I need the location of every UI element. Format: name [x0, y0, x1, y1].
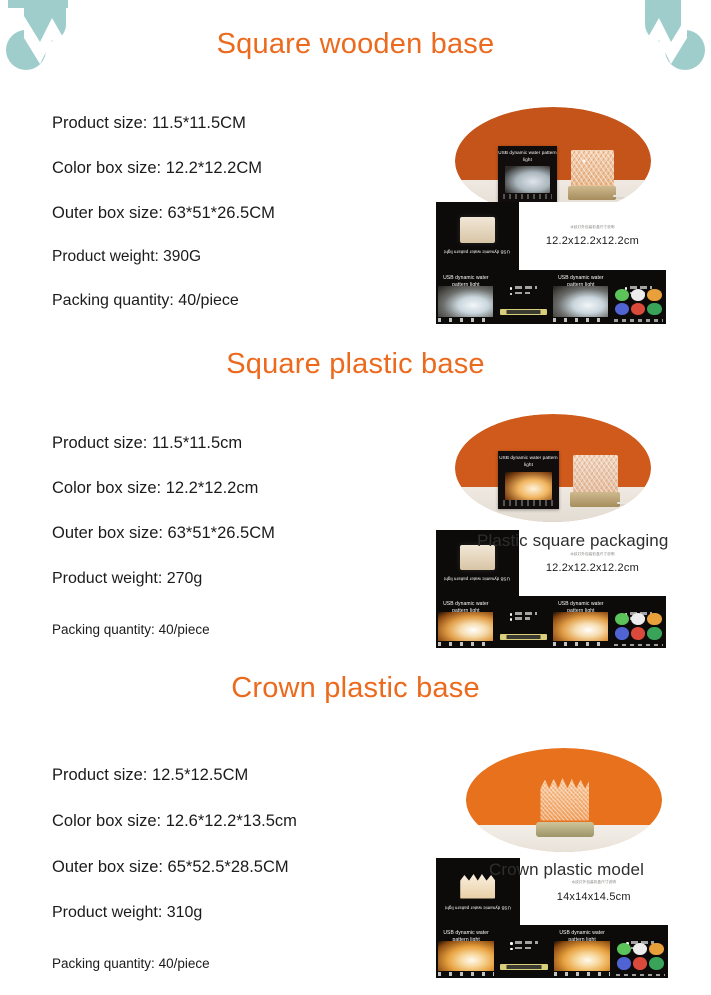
spec-line: Packing quantity: 40/piece: [52, 292, 239, 310]
montage-dimension-panel: 水纹灯外包装彩盒尺寸说明 12.2x12.2x12.2cm: [519, 202, 666, 270]
retail-box-title: USB dynamic water pattern light: [498, 150, 557, 163]
montage-note: 水纹灯外包装彩盒尺寸说明: [572, 880, 616, 885]
montage-color-cell: [612, 925, 668, 978]
spec-line: Outer box size: 65*52.5*28.5CM: [52, 858, 289, 877]
spec-line: Product weight: 310g: [52, 904, 202, 922]
spec-line: Color box size: 12.6*12.2*13.5cm: [52, 812, 297, 831]
product-scene-3: [466, 748, 662, 852]
montage-note: 水纹灯外包装彩盒尺寸说明: [570, 552, 614, 557]
spec-line: Color box size: 12.2*12.2CM: [52, 159, 262, 178]
retail-box-title: USB dynamic water pattern light: [498, 455, 559, 468]
montage-dimensions: 12.2x12.2x12.2cm: [546, 562, 639, 574]
spec-line: Packing quantity: 40/piece: [52, 956, 210, 971]
montage-spec-cell: [496, 270, 551, 324]
lamp-product: [573, 455, 618, 507]
packaging-montage-1: USB dynamic water pattern light 水纹灯外包装彩盒…: [436, 202, 666, 324]
section-heading-2: Square plastic base: [0, 348, 711, 381]
montage-spec-cell: [496, 925, 552, 978]
led-color-swatches: [615, 289, 661, 316]
spec-line: Packing quantity: 40/piece: [52, 622, 210, 637]
spec-line: Product size: 12.5*12.5CM: [52, 766, 248, 785]
retail-color-box: USB dynamic water pattern light: [498, 451, 559, 509]
section-heading-1: Square wooden base: [0, 28, 711, 61]
spec-line: Product size: 11.5*11.5CM: [52, 114, 246, 133]
montage-color-cell: [611, 270, 666, 324]
montage-package-caption: USB dynamic water pattern light: [445, 904, 511, 911]
montage-photo-cell: USB dynamic water pattern light: [436, 270, 496, 324]
section-heading-3: Crown plastic base: [0, 672, 711, 705]
montage-package-caption: USB dynamic water pattern light: [444, 248, 510, 255]
product-scene-1: USB dynamic water pattern light: [455, 107, 651, 215]
spec-line: Outer box size: 63*51*26.5CM: [52, 524, 275, 543]
montage-dimensions: 12.2x12.2x12.2cm: [546, 235, 639, 247]
montage-note: 水纹灯外包装彩盒尺寸说明: [570, 225, 614, 230]
montage-photo-cell: USB dynamic water pattern light: [552, 925, 612, 978]
spec-line: Outer box size: 63*51*26.5CM: [52, 204, 275, 223]
lamp-product: [571, 150, 614, 200]
retail-color-box: USB dynamic water pattern light: [498, 146, 557, 202]
overlay-caption-2: Plastic square packaging: [477, 531, 668, 551]
spec-line: Product weight: 390G: [52, 248, 201, 266]
overlay-caption-3: Crown plastic model: [489, 860, 644, 880]
spec-line: Product size: 11.5*11.5cm: [52, 434, 242, 453]
montage-photo-cell: USB dynamic water pattern light: [436, 596, 496, 648]
montage-package-caption: USB dynamic water pattern light: [444, 575, 510, 582]
spec-line: Product weight: 270g: [52, 570, 202, 588]
montage-photo-cell: USB dynamic water pattern light: [551, 596, 611, 648]
led-color-swatches: [615, 613, 661, 640]
lamp-product-crown: [540, 777, 589, 837]
montage-photo-cell: USB dynamic water pattern light: [551, 270, 611, 324]
montage-spec-cell: [496, 596, 551, 648]
led-color-swatches: [617, 943, 664, 970]
spec-sheet-page: Square wooden base Product size: 11.5*11…: [0, 0, 711, 995]
spec-line: Color box size: 12.2*12.2cm: [52, 479, 258, 498]
product-scene-2: USB dynamic water pattern light: [455, 414, 651, 522]
montage-dimensions: 14x14x14.5cm: [557, 891, 631, 903]
montage-color-cell: [611, 596, 666, 648]
montage-photo-cell: USB dynamic water pattern light: [436, 925, 496, 978]
montage-package-panel: USB dynamic water pattern light: [436, 202, 519, 270]
